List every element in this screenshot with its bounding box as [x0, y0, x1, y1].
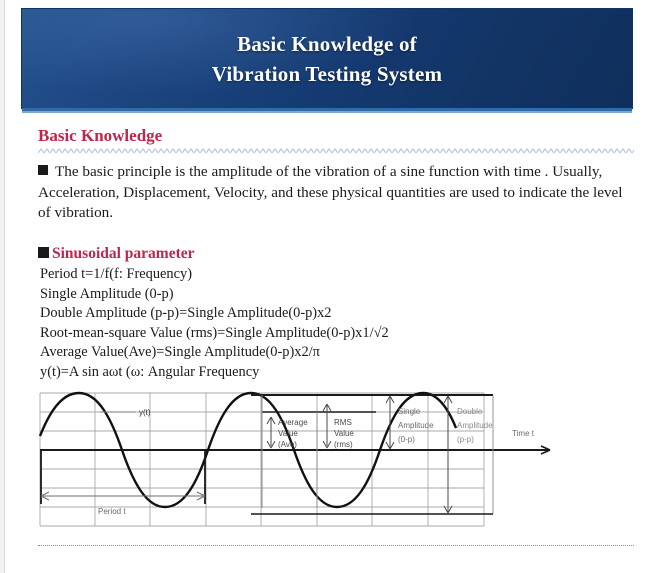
svg-text:Average: Average — [278, 418, 308, 427]
average-value-label: Average Value (Ave) — [278, 418, 308, 449]
waveform-label: y(t) — [139, 408, 151, 417]
svg-text:(rms): (rms) — [334, 440, 353, 449]
formula-list: Period t=1/f(f: Frequency) Single Amplit… — [40, 265, 600, 383]
rms-value-label: RMS Value (rms) — [334, 418, 354, 449]
average-value-arrow — [267, 417, 275, 448]
subsection-heading: Sinusoidal parameter — [38, 245, 195, 263]
bottom-dotted-rule — [38, 545, 634, 548]
double-amplitude-label: Double Amplitude (p-p) — [457, 407, 493, 444]
svg-text:Amplitude: Amplitude — [398, 421, 434, 430]
page-title-line2: Vibration Testing System — [22, 59, 632, 89]
formula-line: Double Amplitude (p-p)=Single Amplitude(… — [40, 304, 600, 324]
formula-line: Root-mean-square Value (rms)=Single Ampl… — [40, 324, 600, 344]
intro-paragraph: The basic principle is the amplitude of … — [38, 162, 630, 224]
square-bullet-icon — [38, 247, 49, 258]
double-amplitude-arrow — [444, 396, 452, 513]
slide-page: Basic Knowledge of Vibration Testing Sys… — [0, 0, 650, 573]
formula-line: Period t=1/f(f: Frequency) — [40, 265, 600, 285]
svg-text:(p-p): (p-p) — [457, 435, 474, 444]
single-amplitude-label: Single Amplitude (0-p) — [398, 407, 434, 444]
svg-text:Value: Value — [278, 429, 298, 438]
section-heading: Basic Knowledge — [38, 126, 162, 146]
svg-text:RMS: RMS — [334, 418, 352, 427]
formula-line: y(t)=A sin aωt (ω: Angular Frequency — [40, 363, 600, 383]
formula-line: Single Amplitude (0-p) — [40, 285, 600, 305]
single-amplitude-arrow — [386, 396, 394, 449]
formula-line: Average Value(Ave)=Single Amplitude(0-p)… — [40, 343, 600, 363]
svg-text:Double: Double — [457, 407, 483, 416]
page-title-line1: Basic Knowledge of — [22, 29, 632, 59]
svg-text:Amplitude: Amplitude — [457, 421, 493, 430]
heading-zigzag-rule — [38, 148, 634, 154]
page-title: Basic Knowledge of Vibration Testing Sys… — [22, 9, 632, 89]
time-axis-label: Time t — [512, 429, 535, 438]
svg-text:Value: Value — [334, 429, 354, 438]
title-banner: Basic Knowledge of Vibration Testing Sys… — [22, 9, 632, 108]
svg-text:(Ave): (Ave) — [278, 440, 297, 449]
rms-value-arrow — [323, 404, 331, 448]
svg-text:(0-p): (0-p) — [398, 435, 415, 444]
subsection-heading-text: Sinusoidal parameter — [52, 245, 195, 262]
square-bullet-icon — [38, 165, 48, 175]
period-label: Period t — [98, 507, 126, 516]
banner-underline-secondary — [22, 111, 632, 113]
intro-paragraph-text: The basic principle is the amplitude of … — [38, 163, 623, 221]
svg-text:Single: Single — [398, 407, 421, 416]
period-measure — [41, 450, 205, 504]
sine-wave-diagram: Time t y(t) Period t — [38, 388, 598, 538]
